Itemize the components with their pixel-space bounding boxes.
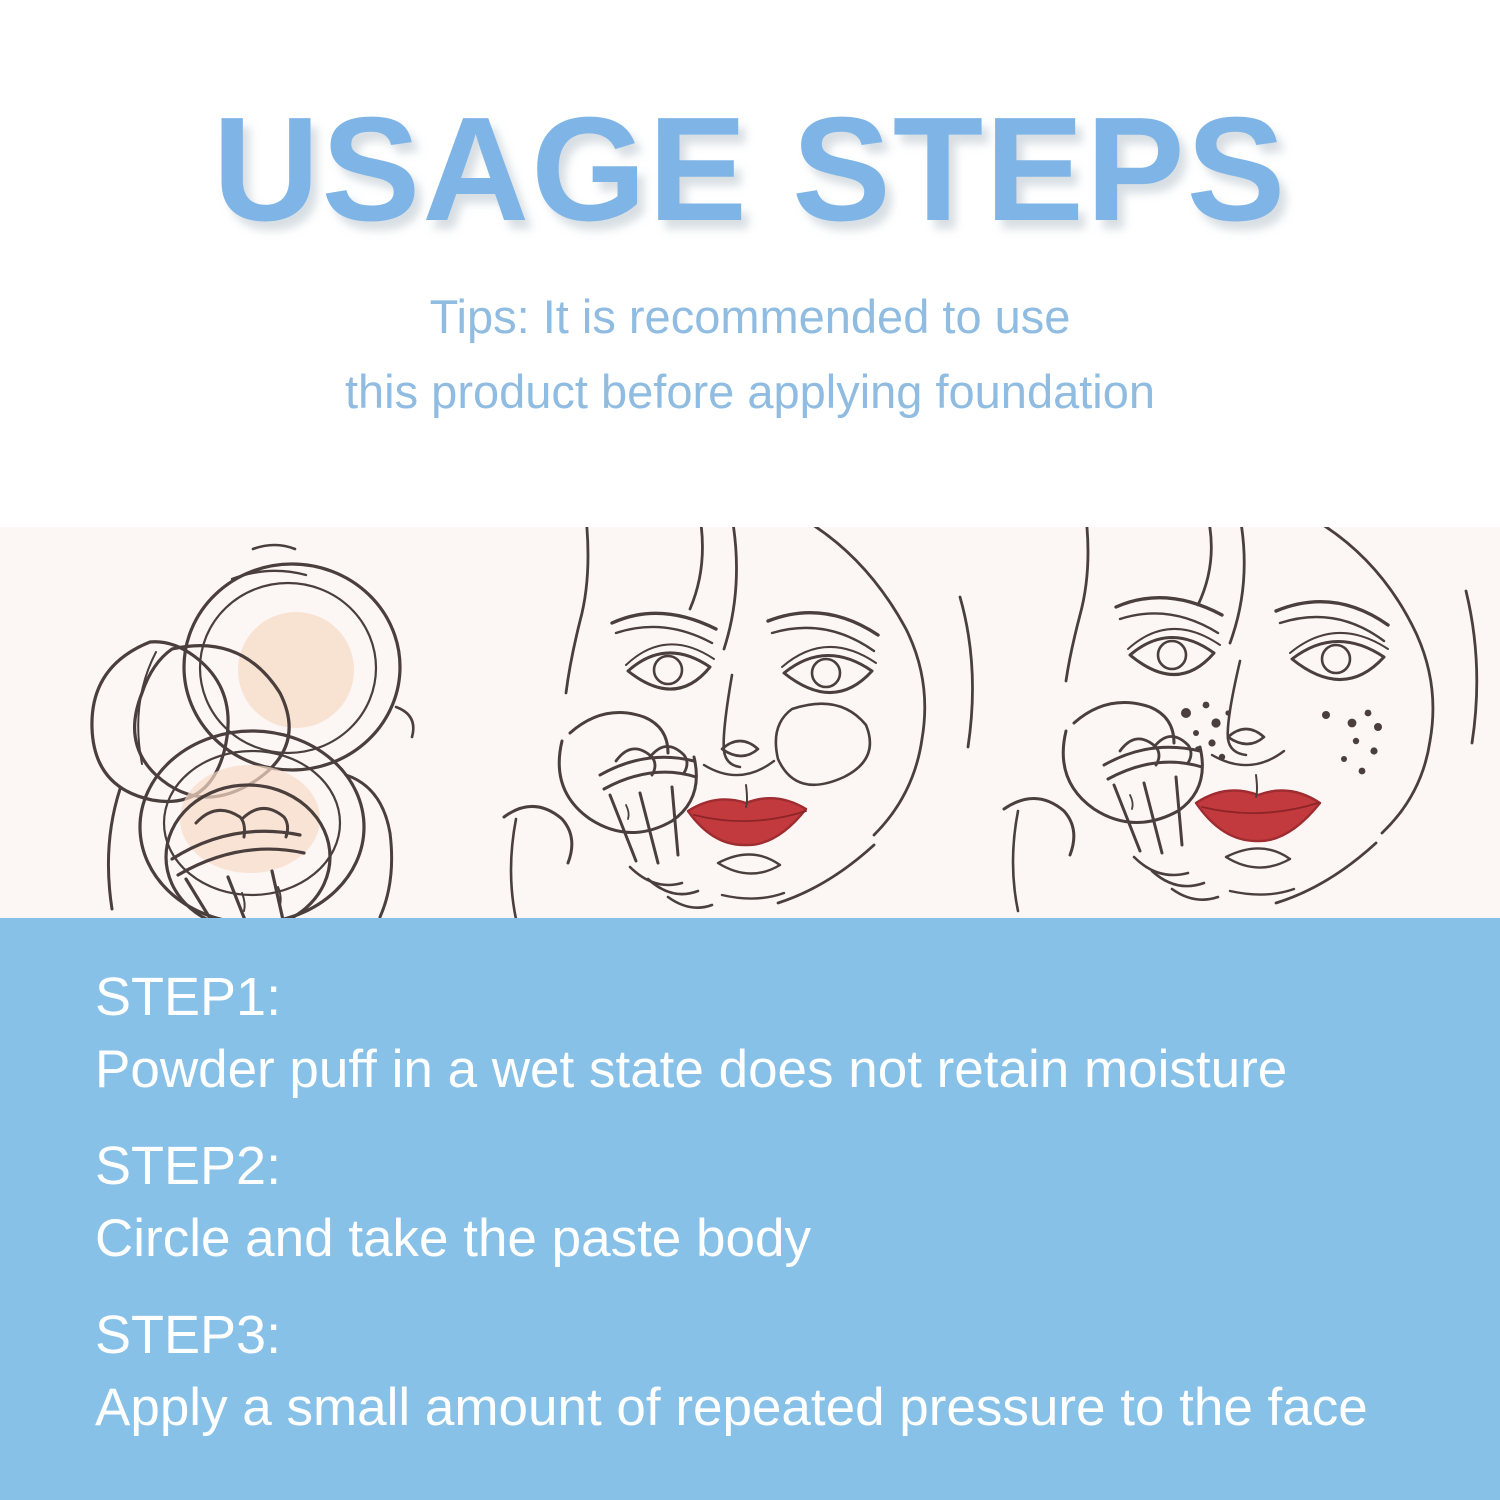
- illustration-face-with-freckles: [1000, 527, 1500, 918]
- compact-powder-fill: [238, 612, 354, 728]
- step-3-label: STEP3:: [95, 1304, 1440, 1368]
- step-2-label: STEP2:: [95, 1135, 1440, 1199]
- philtrum: [746, 785, 747, 807]
- tips-line-1: Tips: It is recommended to use: [0, 293, 1500, 340]
- philtrum: [1256, 775, 1257, 797]
- step-2-text: Circle and take the paste body: [95, 1199, 1440, 1279]
- face-applying-puff-drawing: [500, 527, 1000, 918]
- header-section: USAGE STEPS Tips: It is recommended to u…: [0, 0, 1500, 527]
- step-1-text: Powder puff in a wet state does not reta…: [95, 1030, 1440, 1110]
- illustration-face-applying-puff: [500, 527, 1000, 918]
- step-block-2: STEP2: Circle and take the paste body: [95, 1135, 1440, 1278]
- compact-and-puffs-drawing: [0, 527, 500, 918]
- illustration-compact-and-puffs: [0, 527, 500, 918]
- illustration-band: [0, 527, 1500, 918]
- step-3-text: Apply a small amount of repeated pressur…: [95, 1368, 1440, 1448]
- face-with-freckles-drawing: [1000, 527, 1500, 918]
- tips-line-2: this product before applying foundation: [0, 368, 1500, 415]
- step-block-3: STEP3: Apply a small amount of repeated …: [95, 1304, 1440, 1447]
- step-block-1: STEP1: Powder puff in a wet state does n…: [95, 966, 1440, 1109]
- steps-panel: STEP1: Powder puff in a wet state does n…: [0, 918, 1500, 1500]
- usage-steps-infographic: USAGE STEPS Tips: It is recommended to u…: [0, 0, 1500, 1500]
- page-title: USAGE STEPS: [0, 96, 1500, 244]
- step-1-label: STEP1:: [95, 966, 1440, 1030]
